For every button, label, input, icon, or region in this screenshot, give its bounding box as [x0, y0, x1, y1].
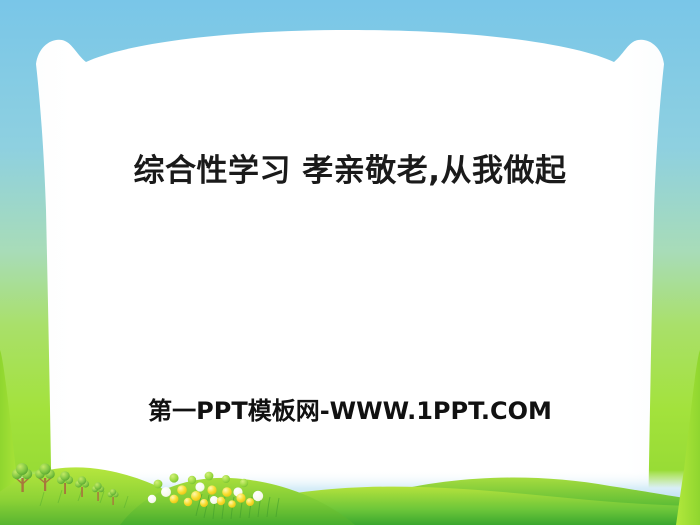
- presentation-slide: 综合性学习 孝亲敬老,从我做起 第一PPT模板网-WWW.1PPT.COM: [0, 0, 700, 525]
- slide-title: 综合性学习 孝亲敬老,从我做起: [0, 152, 700, 191]
- flower-cluster: [0, 0, 700, 525]
- footer-watermark: 第一PPT模板网-WWW.1PPT.COM: [0, 391, 700, 426]
